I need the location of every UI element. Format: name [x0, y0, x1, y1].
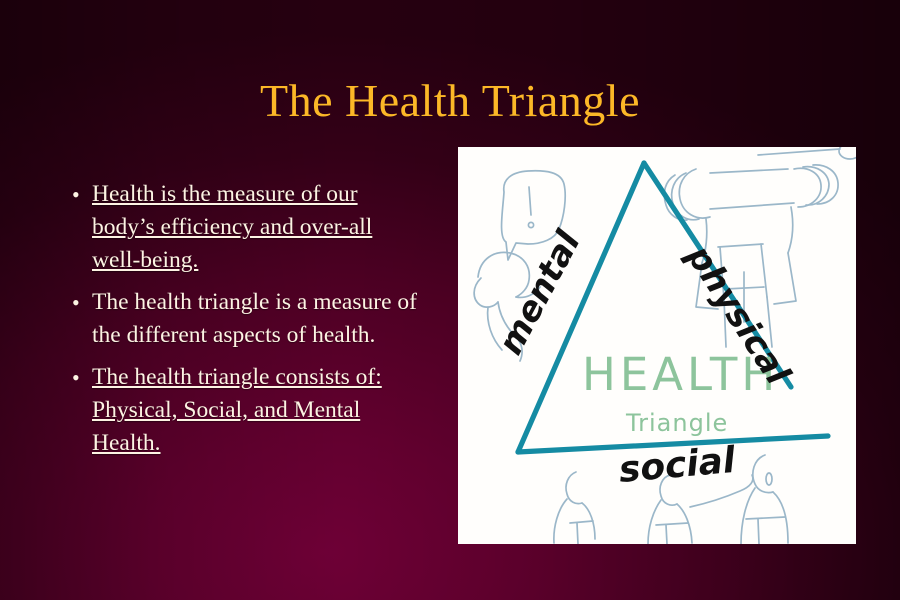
list-item-text: Health is the measure of our body’s effi…: [92, 178, 426, 277]
list-item-text: The health triangle consists of: Physica…: [92, 361, 426, 460]
list-item: • Health is the measure of our body’s ef…: [66, 178, 426, 277]
list-item: • The health triangle consists of: Physi…: [66, 361, 426, 460]
page-title: The Health Triangle: [0, 72, 900, 130]
list-item: • The health triangle is a measure of th…: [66, 286, 426, 352]
bullet-marker-icon: •: [66, 286, 92, 319]
bullet-marker-icon: •: [66, 178, 92, 211]
slide-canvas: The Health Triangle • Health is the meas…: [0, 0, 900, 600]
health-triangle-image: HEALTH Triangle mental physical social: [458, 147, 856, 544]
triangle-label: Triangle: [625, 409, 728, 437]
list-item-text: The health triangle is a measure of the …: [92, 286, 426, 352]
bullet-list: • Health is the measure of our body’s ef…: [66, 178, 426, 469]
bullet-marker-icon: •: [66, 361, 92, 394]
